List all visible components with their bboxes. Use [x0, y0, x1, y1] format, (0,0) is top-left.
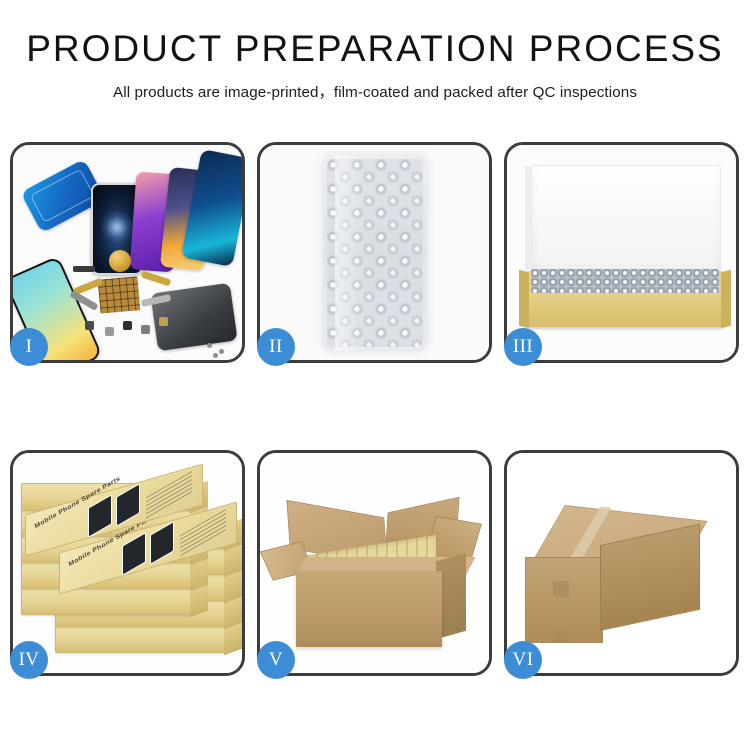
process-steps-grid: I II III	[10, 142, 740, 676]
carton-hand-hole	[553, 581, 569, 597]
stacked-box	[55, 625, 227, 653]
stacked-box	[21, 587, 193, 615]
page-title: PRODUCT PREPARATION PROCESS	[0, 30, 750, 67]
carton-hand-hole	[553, 629, 569, 643]
step-image-inner-box	[507, 145, 736, 360]
plastic-sheen	[335, 155, 364, 351]
step-badge-1: I	[10, 328, 48, 366]
white-box-lid-icon	[531, 165, 721, 277]
page-header: PRODUCT PREPARATION PROCESS All products…	[0, 0, 750, 102]
teal-phone-icon	[181, 149, 242, 267]
small-part-icon	[123, 321, 132, 330]
small-part-icon	[159, 317, 168, 326]
step-image-sealed-carton	[507, 453, 736, 673]
step-card-3[interactable]: III	[504, 142, 739, 363]
small-part-icon	[85, 321, 94, 330]
page-subtitle: All products are image-printed，film-coat…	[0, 80, 750, 102]
chip-grid-icon	[98, 276, 141, 313]
step-image-stacked-boxes: Mobile Phone Spare Parts Mobile Phone Sp…	[13, 453, 242, 673]
step-badge-4: IV	[10, 641, 48, 679]
step-card-2[interactable]: II	[257, 142, 492, 363]
copper-coil-icon	[109, 250, 131, 272]
step-badge-6: VI	[504, 641, 542, 679]
carton-front-panel	[296, 571, 442, 647]
step-image-open-carton	[260, 453, 489, 673]
step-card-1[interactable]: I	[10, 142, 245, 363]
step-badge-5: V	[257, 641, 295, 679]
small-part-icon	[105, 327, 114, 336]
step-image-bubble-wrap	[260, 145, 489, 360]
small-part-icon	[73, 266, 95, 272]
step-card-6[interactable]: VI	[504, 450, 739, 676]
box-window-screen	[116, 483, 140, 527]
screw-icon	[207, 343, 212, 348]
box-window-screen	[150, 521, 174, 565]
step-card-4[interactable]: Mobile Phone Spare Parts Mobile Phone Sp…	[10, 450, 245, 676]
screw-icon	[213, 353, 218, 358]
flex-cable-icon	[141, 271, 172, 287]
box-window-screen	[88, 494, 112, 538]
bubble-wrap-pouch-icon	[323, 155, 427, 351]
bubble-wrapped-contents	[531, 269, 719, 293]
box-window-screen	[122, 532, 146, 576]
product-preparation-process-page: PRODUCT PREPARATION PROCESS All products…	[0, 0, 750, 750]
screw-icon	[219, 349, 224, 354]
step-badge-3: III	[504, 328, 542, 366]
step-card-5[interactable]: V	[257, 450, 492, 676]
small-part-icon	[141, 325, 150, 334]
step-badge-2: II	[257, 328, 295, 366]
box-stack: Mobile Phone Spare Parts Mobile Phone Sp…	[21, 475, 235, 659]
step-image-phone-parts	[13, 145, 242, 360]
